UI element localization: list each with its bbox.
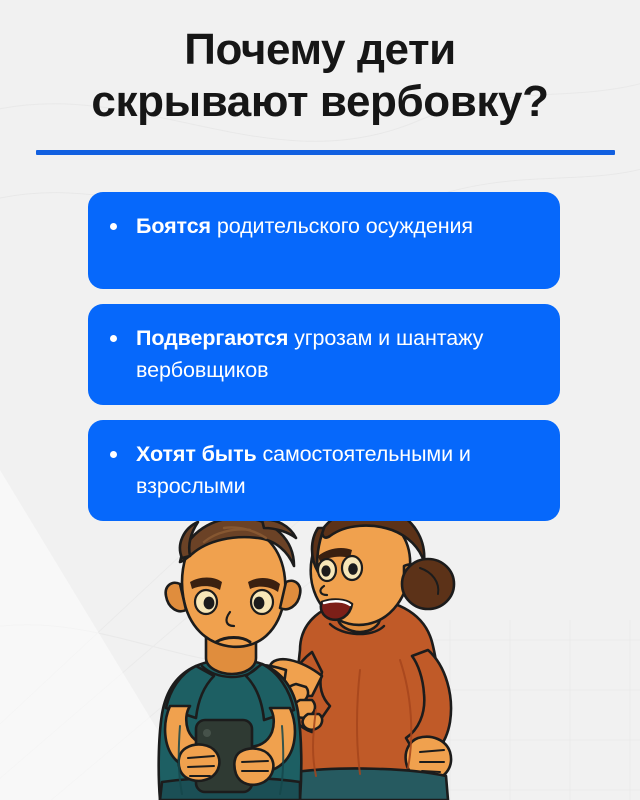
reason-card-text: Подвергаются угрозам и шантажу вербовщик…	[136, 322, 540, 386]
reason-card[interactable]: Подвергаются угрозам и шантажу вербовщик…	[88, 304, 560, 405]
title-divider-rule	[36, 150, 615, 155]
bullet-dot-icon	[110, 451, 117, 458]
reason-card[interactable]: Хотят быть самостоятельными и взрослыми	[88, 420, 560, 521]
mother-scolding-boy-illustration	[0, 500, 640, 800]
page-title-line-2: скрывают вербовку?	[0, 76, 640, 128]
bullet-dot-icon	[110, 223, 117, 230]
page-header: Почему дети скрывают вербовку?	[0, 0, 640, 128]
reason-lead-word: Боятся	[136, 214, 211, 238]
page-title-line-1: Почему дети	[0, 24, 640, 76]
reason-lead-word: Хотят быть	[136, 442, 257, 466]
reason-lead-word: Подвергаются	[136, 326, 288, 350]
reason-rest-text: родительского осуждения	[211, 214, 473, 238]
reason-card-text: Хотят быть самостоятельными и взрослыми	[136, 438, 540, 502]
reason-card-text: Боятся родительского осуждения	[136, 210, 473, 242]
bullet-dot-icon	[110, 335, 117, 342]
reason-card-list: Боятся родительского осуждения Подвергаю…	[88, 192, 560, 521]
reason-card[interactable]: Боятся родительского осуждения	[88, 192, 560, 289]
